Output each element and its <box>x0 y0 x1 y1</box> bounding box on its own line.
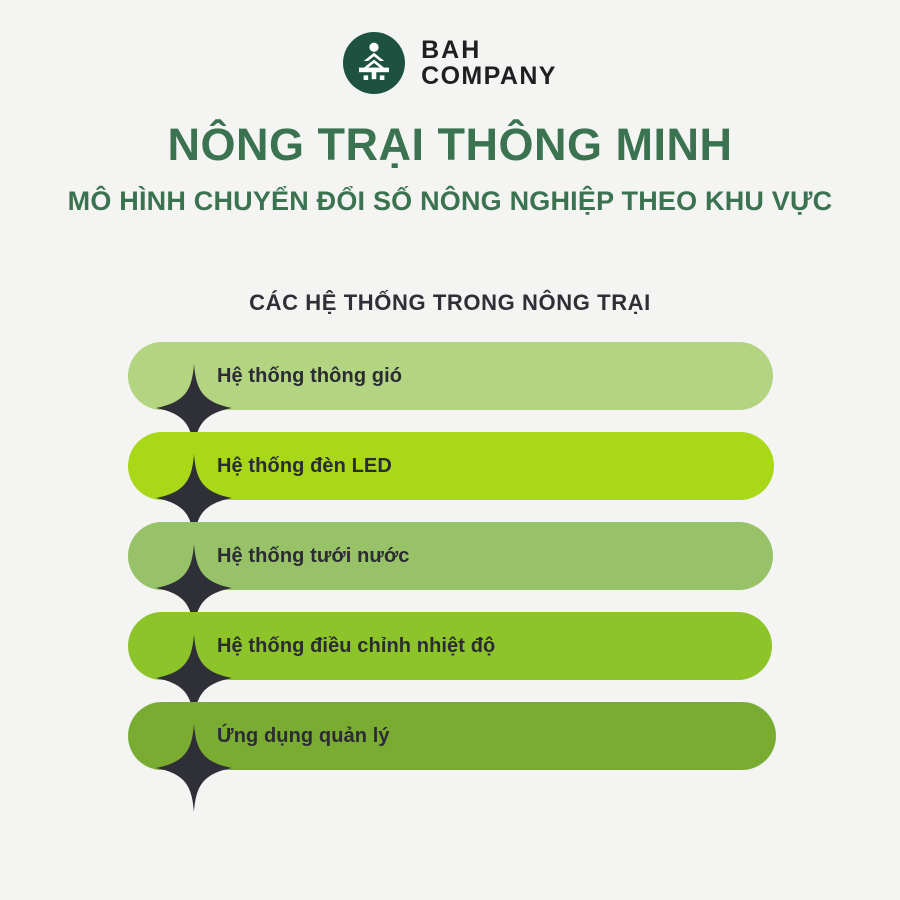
system-label: Hệ thống điều chỉnh nhiệt độ <box>217 635 495 658</box>
tree-logo-icon <box>343 32 405 94</box>
section-heading: CÁC HỆ THỐNG TRONG NÔNG TRẠI <box>0 290 900 316</box>
system-pill[interactable]: Hệ thống tưới nước <box>128 522 773 590</box>
system-pill[interactable]: Hệ thống đèn LED <box>128 432 774 500</box>
system-list-item[interactable]: Hệ thống tưới nước <box>128 522 776 612</box>
system-list-item[interactable]: Hệ thống điều chỉnh nhiệt độ <box>128 612 776 702</box>
system-label: Ứng dụng quản lý <box>217 725 390 748</box>
system-list-item[interactable]: Hệ thống đèn LED <box>128 432 776 522</box>
brand-header: BAH COMPANY <box>0 32 900 94</box>
system-list-item[interactable]: Ứng dụng quản lý <box>128 702 776 792</box>
brand-wordmark: BAH COMPANY <box>421 37 557 90</box>
page-title: NÔNG TRẠI THÔNG MINH <box>0 119 900 171</box>
system-pill[interactable]: Hệ thống điều chỉnh nhiệt độ <box>128 612 772 680</box>
system-list-item[interactable]: Hệ thống thông gió <box>128 342 776 432</box>
page-subtitle: MÔ HÌNH CHUYỂN ĐỔI SỐ NÔNG NGHIỆP THEO K… <box>0 186 900 217</box>
system-label: Hệ thống tưới nước <box>217 545 410 568</box>
brand-line-2: COMPANY <box>421 63 557 90</box>
brand-line-1: BAH <box>421 37 557 64</box>
system-label: Hệ thống đèn LED <box>217 455 392 478</box>
system-pill[interactable]: Hệ thống thông gió <box>128 342 773 410</box>
system-pill[interactable]: Ứng dụng quản lý <box>128 702 776 770</box>
system-list: Hệ thống thông gióHệ thống đèn LEDHệ thố… <box>128 342 776 792</box>
system-label: Hệ thống thông gió <box>217 365 402 388</box>
